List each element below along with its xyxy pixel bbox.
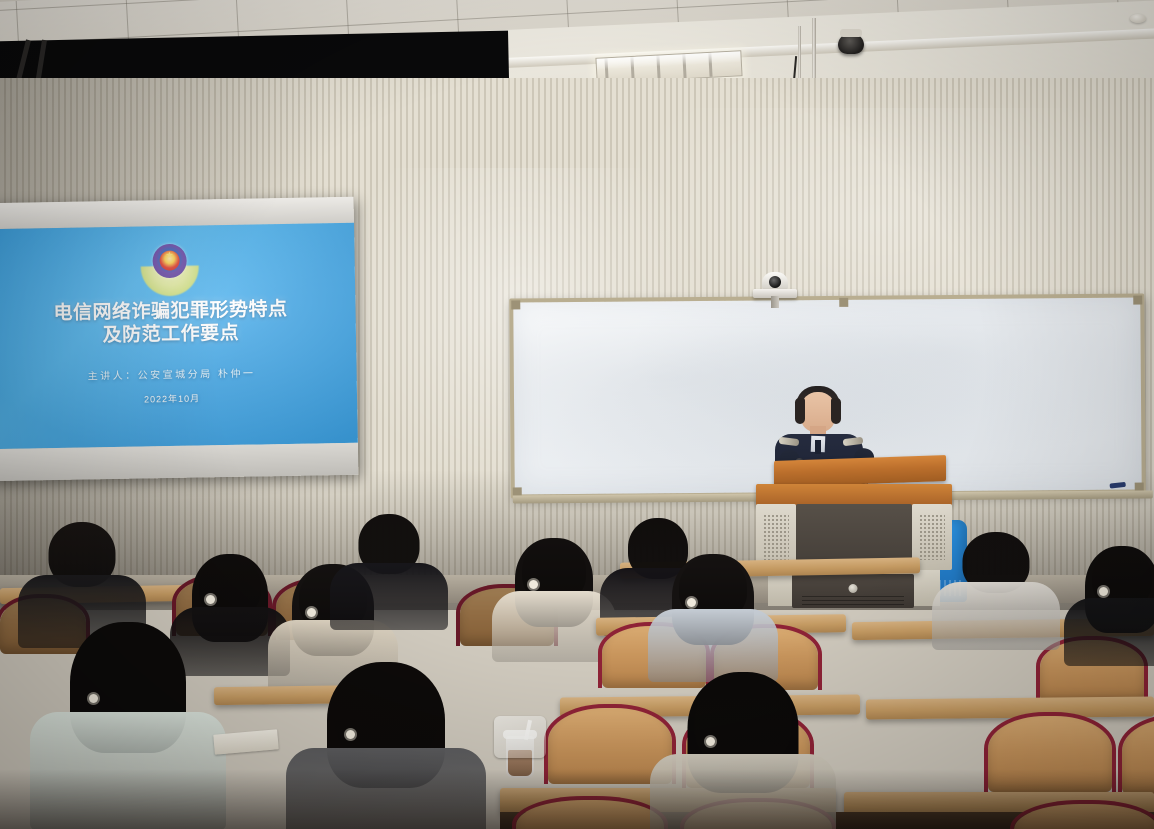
slide-presenter: 主讲人：公安宣城分局 朴仲一 <box>0 363 357 384</box>
hair-tie <box>346 730 355 739</box>
auditorium-seat[interactable] <box>988 716 1112 792</box>
lecture-hall-scene: ★ 电信网络诈骗犯罪形势特点 及防范工作要点 主讲人：公安宣城分局 朴仲一 20… <box>0 0 1154 829</box>
student-torso <box>30 712 226 829</box>
slide-title-line2: 及防范工作要点 <box>0 320 346 349</box>
whiteboard-corner <box>1133 296 1142 305</box>
student-torso <box>286 748 486 829</box>
whiteboard-mount <box>839 298 848 307</box>
smoke-detector-icon <box>1130 14 1146 23</box>
notebook-paper[interactable] <box>213 729 278 755</box>
hair-tie <box>687 598 696 607</box>
ptz-camera-body <box>762 272 788 290</box>
auditorium-seat[interactable] <box>516 800 664 829</box>
student-blue-shirt <box>648 552 778 682</box>
hair-tie <box>1099 587 1108 596</box>
slide-title-line1: 电信网络诈骗犯罪形势特点 <box>0 297 346 326</box>
desk-row-middle <box>866 696 1154 719</box>
plastic-bag <box>494 716 546 758</box>
ptz-camera-arm <box>771 296 779 308</box>
student-white-sweater-center <box>932 528 1060 650</box>
hair-tie <box>307 608 316 617</box>
student-mint-hoodie-front <box>30 620 226 829</box>
hair-tie <box>529 580 538 589</box>
student-torso <box>1064 598 1154 666</box>
auditorium-seat[interactable] <box>1122 718 1154 794</box>
student-ponytail-white <box>492 536 616 662</box>
student-dark-navy-back <box>330 510 448 630</box>
student-torso <box>932 582 1060 650</box>
student-cream-front-right <box>650 670 836 829</box>
presenter-hair-side <box>795 398 805 424</box>
dome-security-camera-icon <box>838 34 864 54</box>
screen-bottom-border <box>0 443 358 481</box>
student-black-masked-right <box>1064 544 1154 666</box>
hair-tie <box>706 737 715 746</box>
hair-tie <box>89 694 98 703</box>
presentation-slide: ★ 电信网络诈骗犯罪形势特点 及防范工作要点 主讲人：公安宣城分局 朴仲一 20… <box>0 223 358 449</box>
presenter-tie <box>815 440 821 454</box>
auditorium-seat[interactable] <box>1014 804 1154 829</box>
whiteboard-corner <box>511 300 520 309</box>
ptz-camera-lens <box>769 276 781 288</box>
audience-seating-area <box>0 500 1154 829</box>
student-striped-sweater <box>286 660 486 829</box>
slide-title: 电信网络诈骗犯罪形势特点 及防范工作要点 <box>0 297 356 350</box>
hair-tie <box>206 595 215 604</box>
projection-screen[interactable]: ★ 电信网络诈骗犯罪形势特点 及防范工作要点 主讲人：公安宣城分局 朴仲一 20… <box>0 197 358 481</box>
china-police-emblem-icon: ★ <box>140 244 199 297</box>
student-torso <box>650 754 836 829</box>
ptz-camera-icon <box>753 258 797 298</box>
presenter-hair-side <box>831 398 841 424</box>
slide-date: 2022年10月 <box>0 389 357 408</box>
student-torso <box>330 563 448 630</box>
podium-upper-desktop <box>774 455 946 487</box>
